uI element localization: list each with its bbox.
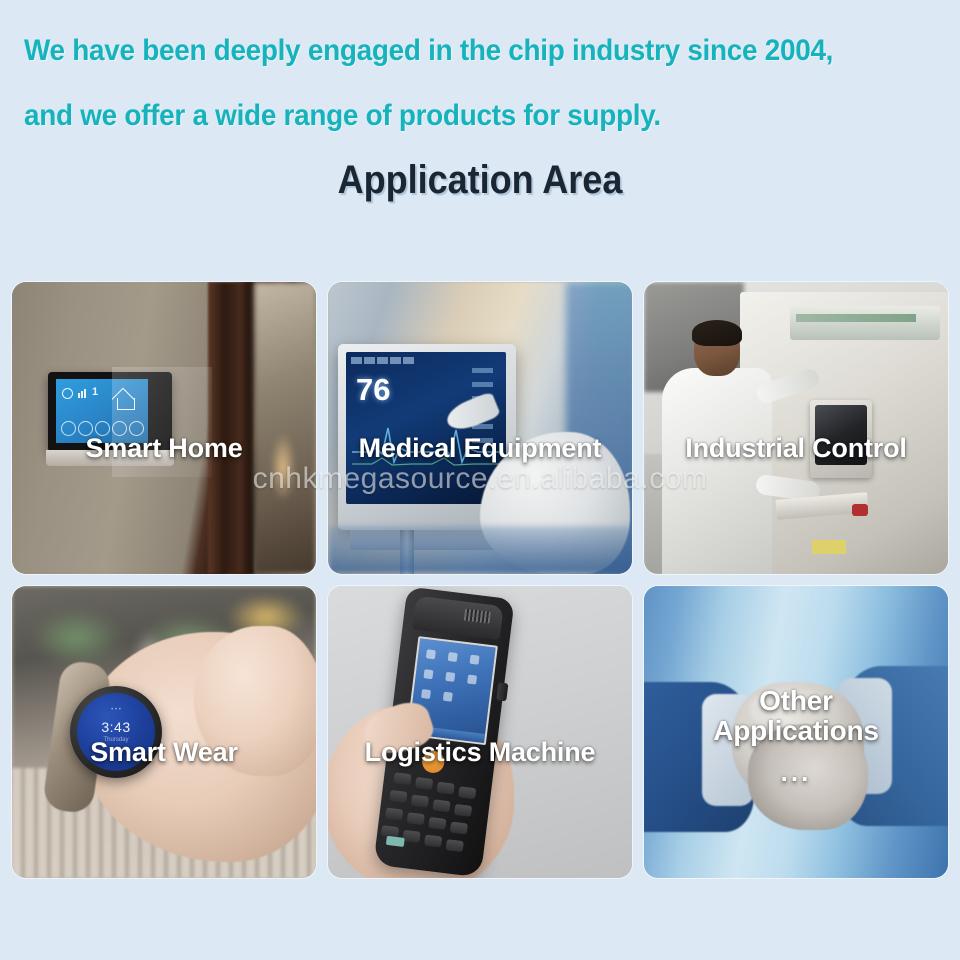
medical-equipment-scene: 76 xyxy=(328,282,632,574)
background-room xyxy=(254,282,316,574)
patient-monitor-screen: 76 xyxy=(346,352,506,504)
headline-line-2: and we offer a wide range of products fo… xyxy=(24,99,661,133)
machine-monitor-screen xyxy=(815,405,867,465)
machine-top-panel xyxy=(790,306,940,340)
terminal-desktop-icons xyxy=(417,647,488,718)
card-medical-equipment[interactable]: 76 Medical Equipment xyxy=(328,282,632,574)
smartwatch-body: • • • 3:43 Thursday xyxy=(70,686,162,778)
bokeh-green-left xyxy=(32,610,122,666)
door-frame xyxy=(208,282,254,574)
card-smart-home[interactable]: 1 Smart Home xyxy=(12,282,316,574)
yellow-label xyxy=(812,540,846,554)
application-area-grid: 1 Smart Home xyxy=(12,282,948,878)
machine-monitor-frame xyxy=(810,400,872,478)
section-title: Application Area xyxy=(48,158,912,203)
watch-status-icons: • • • xyxy=(77,707,155,713)
card-other-applications[interactable]: Other Applications ... xyxy=(644,586,948,878)
watch-date: Thursday xyxy=(77,737,155,743)
headline-line-1: We have been deeply engaged in the chip … xyxy=(24,34,833,68)
card-logistics-machine[interactable]: Logistics Machine xyxy=(328,586,632,878)
machine-green-stripe xyxy=(796,314,916,322)
technician-lab-coat xyxy=(662,368,772,574)
page-header: We have been deeply engaged in the chip … xyxy=(0,0,960,235)
heart-rate-value: 76 xyxy=(356,374,390,405)
home-icon xyxy=(114,387,136,409)
logistics-machine-scene xyxy=(328,586,632,878)
smart-wear-scene: • • • 3:43 Thursday xyxy=(12,586,316,878)
blue-drape-bottom xyxy=(328,526,632,574)
control-panel-base xyxy=(46,450,174,466)
technician-hair xyxy=(692,320,742,346)
industrial-control-scene xyxy=(644,282,948,574)
application-area-page: We have been deeply engaged in the chip … xyxy=(0,0,960,960)
terminal-scan-button xyxy=(421,750,446,775)
panel-quick-toggles xyxy=(61,421,147,437)
card-industrial-control[interactable]: Industrial Control xyxy=(644,282,948,574)
room-light-glow xyxy=(270,432,296,502)
smartwatch-face: • • • 3:43 Thursday xyxy=(77,693,155,771)
terminal-keypad xyxy=(382,772,486,871)
card-smart-wear[interactable]: • • • 3:43 Thursday Smart Wear xyxy=(12,586,316,878)
control-panel-screen: 1 xyxy=(56,379,148,443)
handshake-highlight xyxy=(750,690,838,730)
signal-bars-icon xyxy=(78,388,88,398)
monitor-top-tags xyxy=(351,357,414,364)
handshake-hand-lower xyxy=(748,724,868,830)
other-applications-scene xyxy=(644,586,948,878)
smart-home-scene: 1 xyxy=(12,282,316,574)
red-indicator xyxy=(852,504,868,516)
panel-temperature-value: 1 xyxy=(92,387,98,398)
watch-time: 3:43 xyxy=(77,719,155,735)
weather-sun-icon xyxy=(62,388,73,399)
